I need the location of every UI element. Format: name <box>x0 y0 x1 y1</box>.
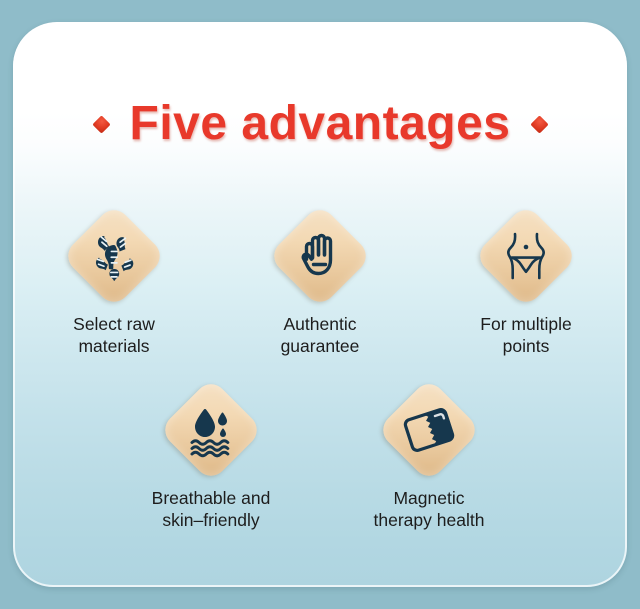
feature-caption-line2: points <box>480 336 571 358</box>
feature-caption: Select raw materials <box>73 314 155 358</box>
water-drop-waves-icon <box>181 400 241 460</box>
features-row-top: Select raw materials <box>13 204 627 358</box>
magnet-block-icon <box>399 400 459 460</box>
feature-caption-line1: Select raw <box>73 314 155 336</box>
feature-card: Five advantages <box>13 22 627 587</box>
feature-caption: Magnetic therapy health <box>374 488 485 532</box>
feature-tile <box>159 378 263 482</box>
feature-caption: For multiple points <box>480 314 571 358</box>
feature-caption-line1: Magnetic <box>374 488 485 510</box>
feature-item-select-raw-materials[interactable]: Select raw materials <box>40 204 188 358</box>
feature-caption-line2: materials <box>73 336 155 358</box>
promo-banner: Five advantages <box>0 0 640 609</box>
title-row: Five advantages <box>13 100 627 148</box>
feature-caption-line1: For multiple <box>480 314 571 336</box>
open-hand-icon <box>290 226 350 286</box>
feature-caption: Breathable and skin–friendly <box>152 488 271 532</box>
feature-caption-line2: guarantee <box>281 336 360 358</box>
features-row-bottom: Breathable and skin–friendly <box>13 378 627 532</box>
feature-caption-line2: therapy health <box>374 510 485 532</box>
feature-caption-line2: skin–friendly <box>152 510 271 532</box>
feature-item-breathable-skin-friendly[interactable]: Breathable and skin–friendly <box>137 378 285 532</box>
feature-caption-line1: Authentic <box>281 314 360 336</box>
feature-item-magnetic-therapy-health[interactable]: Magnetic therapy health <box>355 378 503 532</box>
page-title: Five advantages <box>130 100 511 148</box>
ginger-root-icon <box>84 226 144 286</box>
feature-tile <box>474 204 578 308</box>
feature-caption: Authentic guarantee <box>281 314 360 358</box>
waist-body-icon <box>496 226 556 286</box>
feature-tile <box>268 204 372 308</box>
feature-item-for-multiple-points[interactable]: For multiple points <box>452 204 600 358</box>
feature-tile <box>377 378 481 482</box>
diamond-bullet-right-icon <box>530 115 548 133</box>
features-grid: Select raw materials <box>13 204 627 532</box>
feature-item-authentic-guarantee[interactable]: Authentic guarantee <box>246 204 394 358</box>
feature-tile <box>62 204 166 308</box>
diamond-bullet-left-icon <box>92 115 110 133</box>
feature-caption-line1: Breathable and <box>152 488 271 510</box>
